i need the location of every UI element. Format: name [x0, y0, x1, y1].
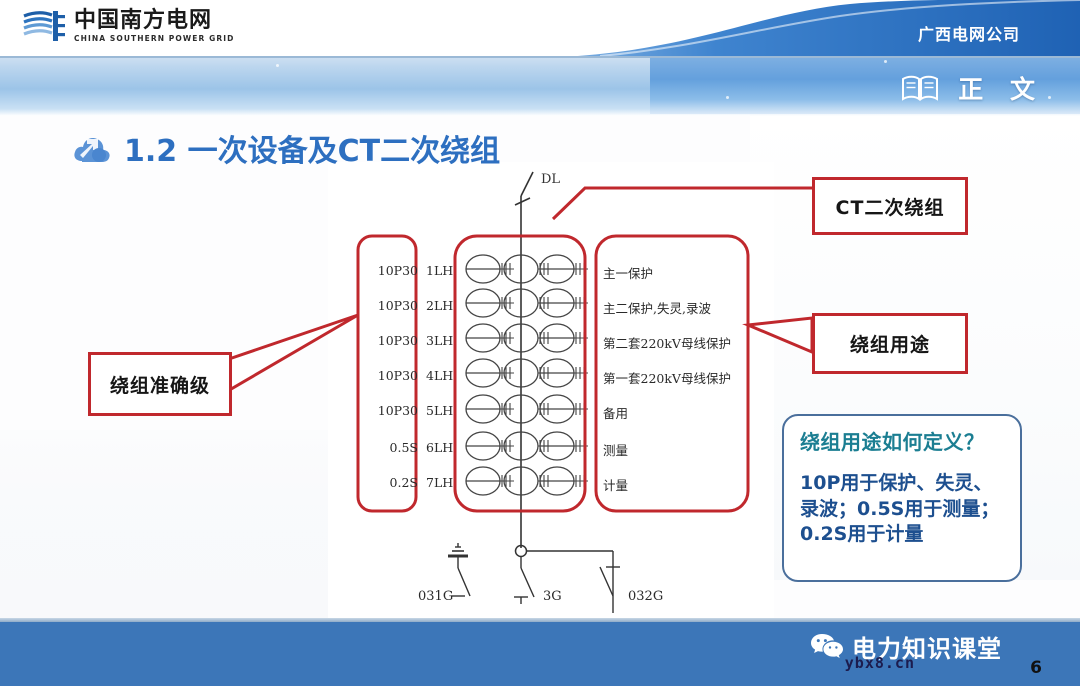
page-number: 6 — [1030, 658, 1042, 678]
callout-winding-use: 绕组用途 — [812, 313, 968, 374]
info-box-winding-definition: 绕组用途如何定义？ 10P用于保护、失灵、录波；0.5S用于测量；0.2S用于计… — [782, 414, 1022, 582]
switch-label-031g: 031G — [418, 589, 453, 604]
sparkle-dot — [726, 96, 729, 99]
page-title-text: 1.2 一次设备及CT二次绕组 — [124, 126, 500, 170]
book-icon — [900, 74, 940, 102]
wechat-icon — [810, 632, 844, 662]
switch-label-032g: 032G — [628, 589, 663, 604]
site-watermark: ybx8.cn — [845, 654, 915, 672]
winding-tag-2: 2LH — [426, 298, 460, 313]
info-box-question: 绕组用途如何定义？ — [800, 426, 1006, 455]
sparkle-dot — [884, 60, 887, 63]
section-indicator: 正 文 — [900, 70, 1044, 106]
winding-use-3: 第二套220kV母线保护 — [603, 333, 731, 352]
winding-accuracy-6: 0.5S — [366, 440, 418, 455]
background-photo-watermark — [0, 430, 340, 620]
slide-header: 中国南方电网 CHINA SOUTHERN POWER GRID 广西电网公司 — [0, 0, 1080, 58]
info-box-answer: 10P用于保护、失灵、录波；0.5S用于测量；0.2S用于计量 — [800, 471, 1006, 548]
logo-chinese-name: 中国南方电网 — [74, 10, 234, 32]
slide: 中国南方电网 CHINA SOUTHERN POWER GRID 广西电网公司 … — [0, 0, 1080, 686]
winding-use-6: 测量 — [603, 440, 628, 459]
winding-tag-6: 6LH — [426, 440, 460, 455]
callout-ct-secondary-winding: CT二次绕组 — [812, 177, 968, 235]
winding-tag-5: 5LH — [426, 403, 460, 418]
winding-use-5: 备用 — [603, 403, 628, 422]
winding-use-4: 第一套220kV母线保护 — [603, 368, 731, 387]
winding-use-7: 计量 — [603, 475, 628, 494]
callout-winding-accuracy: 绕组准确级 — [88, 352, 232, 416]
winding-accuracy-2: 10P30 — [366, 298, 418, 313]
csg-logo-mark — [22, 9, 66, 43]
winding-accuracy-1: 10P30 — [366, 263, 418, 278]
diagram-panel — [328, 162, 774, 620]
sparkle-dot — [1048, 96, 1051, 99]
cloud-arrow-icon — [72, 131, 112, 165]
winding-tag-3: 3LH — [426, 333, 460, 348]
winding-accuracy-7: 0.2S — [366, 475, 418, 490]
winding-use-1: 主一保护 — [603, 263, 653, 282]
winding-accuracy-4: 10P30 — [366, 368, 418, 383]
sparkle-dot — [276, 64, 279, 67]
header-band-divider — [0, 56, 1080, 58]
csg-logo: 中国南方电网 CHINA SOUTHERN POWER GRID — [22, 9, 234, 43]
section-label: 正 文 — [958, 70, 1044, 106]
page-title: 1.2 一次设备及CT二次绕组 — [72, 126, 500, 170]
winding-tag-1: 1LH — [426, 263, 460, 278]
switch-label-3g: 3G — [543, 589, 562, 604]
header-company-name: 广西电网公司 — [918, 21, 1020, 45]
winding-accuracy-5: 10P30 — [366, 403, 418, 418]
breaker-label-dl: DL — [541, 172, 560, 187]
winding-accuracy-3: 10P30 — [366, 333, 418, 348]
winding-use-2: 主二保护,失灵,录波 — [603, 298, 711, 317]
winding-tag-4: 4LH — [426, 368, 460, 383]
logo-english-name: CHINA SOUTHERN POWER GRID — [74, 35, 234, 43]
winding-tag-7: 7LH — [426, 475, 460, 490]
